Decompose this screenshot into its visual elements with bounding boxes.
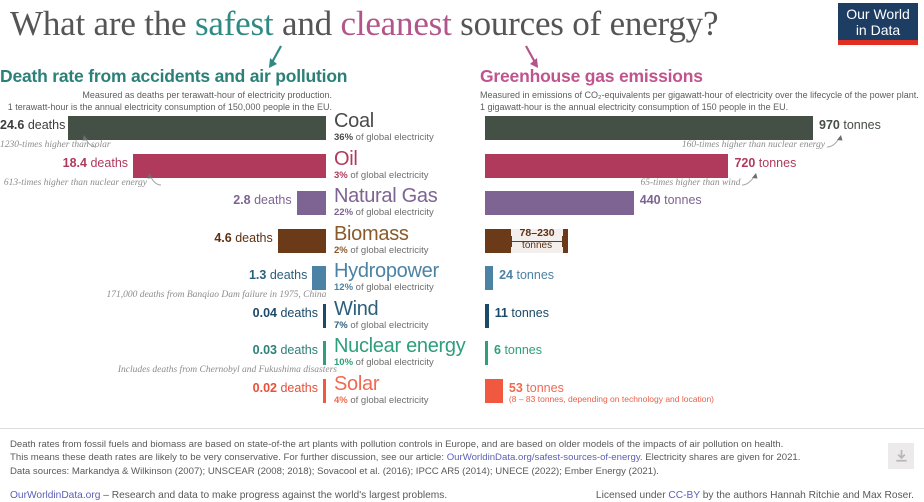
death-rate-bar — [323, 304, 326, 328]
emissions-value: 970 tonnes — [819, 118, 881, 132]
title-part-3: sources of energy? — [452, 4, 719, 43]
emissions-unit: tonnes — [526, 381, 564, 395]
emissions-number: 440 — [640, 193, 661, 207]
emissions-unit: tonnes — [843, 118, 881, 132]
title-part-1: What are the — [10, 4, 195, 43]
emissions-bar — [485, 379, 503, 403]
chart-row: 2.8 deathsNatural Gas22% of global elect… — [0, 191, 924, 225]
death-rate-value: 0.03 deaths — [0, 343, 318, 357]
title-bar: What are the safest and cleanest sources… — [10, 2, 924, 48]
death-rate-unit: deaths — [280, 306, 318, 320]
footer-license-post: by the authors Hannah Ritchie and Max Ro… — [700, 490, 914, 501]
source-share: 10% of global electricity — [334, 357, 465, 368]
download-icon[interactable] — [888, 443, 914, 469]
emissions-range-value: 78–230tonnes — [511, 227, 562, 252]
death-rate-number: 18.4 — [63, 156, 87, 170]
footer-line-2-text-b: . Electricity shares are given for 2021. — [640, 452, 801, 463]
left-section-header: Death rate from accidents and air pollut… — [0, 66, 332, 113]
source-label: Wind7% of global electricity — [334, 299, 429, 331]
emissions-bar — [485, 341, 488, 365]
footer-article-link[interactable]: OurWorldinData.org/safest-sources-of-ene… — [447, 452, 640, 463]
death-rate-value: 1.3 deaths — [0, 268, 307, 282]
death-rate-number: 0.02 — [253, 381, 277, 395]
source-share: 22% of global electricity — [334, 207, 437, 218]
note-leader-line — [740, 172, 764, 190]
title-part-2: and — [273, 4, 340, 43]
death-rate-number: 0.03 — [253, 343, 277, 357]
death-rate-note: Includes deaths from Chernobyl and Fukus… — [0, 365, 337, 375]
emissions-unit: tonnes — [504, 343, 542, 357]
source-share: 4% of global electricity — [334, 395, 429, 406]
owid-logo-line-1: Our World — [838, 6, 918, 22]
footer-license-pre: Licensed under — [596, 490, 669, 501]
death-rate-bar — [278, 229, 326, 253]
emissions-number: 970 — [819, 118, 840, 132]
emissions-bar — [485, 116, 813, 140]
emissions-range-unit: tonnes — [522, 240, 552, 251]
footer-owid-link[interactable]: OurWorldinData.org — [10, 490, 100, 501]
death-rate-value: 18.4 deaths — [0, 156, 128, 170]
emissions-number: 24 — [499, 268, 513, 282]
source-label: Nuclear energy10% of global electricity — [334, 336, 465, 368]
left-section-subtitle-2: 1 terawatt-hour is the annual electricit… — [0, 102, 332, 114]
death-rate-unit: deaths — [235, 231, 273, 245]
source-name: Solar — [334, 374, 429, 395]
right-section-header: Greenhouse gas emissions Measured in emi… — [480, 66, 924, 113]
death-rate-number: 24.6 — [0, 118, 24, 132]
emissions-value: 720 tonnes — [734, 156, 796, 170]
source-name: Oil — [334, 149, 429, 170]
emissions-number: 720 — [734, 156, 755, 170]
source-name: Biomass — [334, 224, 429, 245]
death-rate-bar — [68, 116, 326, 140]
owid-logo: Our World in Data — [838, 3, 918, 45]
emissions-value: 53 tonnes — [509, 381, 564, 395]
note-leader-line — [825, 134, 849, 152]
left-section-title: Death rate from accidents and air pollut… — [0, 66, 332, 87]
death-rate-value: 4.6 deaths — [0, 231, 273, 245]
footer-license-link[interactable]: CC-BY — [668, 490, 700, 501]
death-rate-value: 0.02 deaths — [0, 381, 318, 395]
emissions-unit: tonnes — [511, 306, 549, 320]
footer-tagline: – Research and data to make progress aga… — [100, 490, 447, 501]
footer-bottom-row: OurWorldinData.org – Research and data t… — [10, 489, 914, 502]
title-highlight-cleanest: cleanest — [340, 4, 451, 43]
source-share: 2% of global electricity — [334, 245, 429, 256]
source-name: Natural Gas — [334, 186, 437, 207]
death-rate-value: 2.8 deaths — [0, 193, 292, 207]
emissions-value: 11 tonnes — [495, 306, 549, 320]
death-rate-bar — [323, 379, 326, 403]
source-label: Natural Gas22% of global electricity — [334, 186, 437, 218]
death-rate-bar — [297, 191, 326, 215]
chart-row: 4.6 deathsBiomass2% of global electricit… — [0, 229, 924, 263]
footer-license: Licensed under CC-BY by the authors Hann… — [596, 489, 914, 502]
death-rate-unit: deaths — [280, 381, 318, 395]
death-rate-unit: deaths — [90, 156, 128, 170]
death-rate-number: 0.04 — [253, 306, 277, 320]
emissions-value: 24 tonnes — [499, 268, 554, 282]
page-title: What are the safest and cleanest sources… — [10, 2, 924, 46]
chart-row: 0.03 deathsNuclear energy10% of global e… — [0, 341, 924, 375]
source-label: Oil3% of global electricity — [334, 149, 429, 181]
footer-line-1: Death rates from fossil fuels and biomas… — [10, 438, 914, 451]
emissions-unit: tonnes — [759, 156, 797, 170]
emissions-value: 6 tonnes — [494, 343, 542, 357]
death-rate-number: 4.6 — [214, 231, 231, 245]
right-section-title: Greenhouse gas emissions — [480, 66, 924, 87]
emissions-value: 440 tonnes — [640, 193, 702, 207]
emissions-bar — [485, 191, 634, 215]
emissions-bar-high-cap — [563, 229, 568, 253]
death-rate-bar — [312, 266, 326, 290]
emissions-unit: tonnes — [664, 193, 702, 207]
chart-row: 18.4 deathsOil3% of global electricity72… — [0, 154, 924, 188]
chart-row: 0.04 deathsWind7% of global electricity1… — [0, 304, 924, 338]
emissions-number: 53 — [509, 381, 523, 395]
emissions-bar — [485, 229, 511, 253]
source-name: Hydropower — [334, 261, 439, 282]
chart-row: 0.02 deathsSolar4% of global electricity… — [0, 379, 924, 413]
owid-logo-line-2: in Data — [838, 22, 918, 38]
chart-row: 24.6 deathsCoal36% of global electricity… — [0, 116, 924, 150]
emissions-bar — [485, 304, 489, 328]
right-section-subtitle-2: 1 gigawatt-hour is the annual electricit… — [480, 102, 924, 114]
source-name: Wind — [334, 299, 429, 320]
emissions-sub-note: (8 – 83 tonnes, depending on technology … — [509, 394, 714, 404]
death-rate-bar — [323, 341, 326, 365]
source-label: Biomass2% of global electricity — [334, 224, 429, 256]
emissions-bar — [485, 154, 728, 178]
death-rate-unit: deaths — [280, 343, 318, 357]
death-rate-number: 1.3 — [249, 268, 266, 282]
source-label: Coal36% of global electricity — [334, 111, 434, 143]
death-rate-unit: deaths — [28, 118, 66, 132]
footer-line-2-text-a: This means these death rates are likely … — [10, 452, 447, 463]
source-label: Solar4% of global electricity — [334, 374, 429, 406]
death-rate-value: 24.6 deaths — [0, 118, 63, 132]
emissions-number: 11 — [495, 306, 508, 320]
emissions-bar — [485, 266, 493, 290]
source-name: Coal — [334, 111, 434, 132]
death-rate-note: 171,000 deaths from Banqiao Dam failure … — [0, 290, 326, 300]
death-rate-number: 2.8 — [233, 193, 250, 207]
emissions-number: 6 — [494, 343, 501, 357]
footer-line-3-sources: Data sources: Markandya & Wilkinson (200… — [10, 465, 914, 478]
source-name: Nuclear energy — [334, 336, 465, 357]
chart-row: 1.3 deathsHydropower12% of global electr… — [0, 266, 924, 300]
emissions-range-indicator: 78–230tonnes — [511, 229, 562, 253]
death-rate-value: 0.04 deaths — [0, 306, 318, 320]
footer-line-2: This means these death rates are likely … — [10, 451, 914, 464]
death-rate-unit: deaths — [270, 268, 308, 282]
right-section-subtitle-1: Measured in emissions of CO₂-equivalents… — [480, 90, 924, 102]
footer: Death rates from fossil fuels and biomas… — [0, 428, 924, 493]
left-section-subtitle-1: Measured as deaths per terawatt-hour of … — [0, 90, 332, 102]
emissions-unit: tonnes — [517, 268, 555, 282]
title-highlight-safest: safest — [195, 4, 274, 43]
source-share: 12% of global electricity — [334, 282, 439, 293]
death-rate-unit: deaths — [254, 193, 292, 207]
source-share: 7% of global electricity — [334, 320, 429, 331]
source-label: Hydropower12% of global electricity — [334, 261, 439, 293]
